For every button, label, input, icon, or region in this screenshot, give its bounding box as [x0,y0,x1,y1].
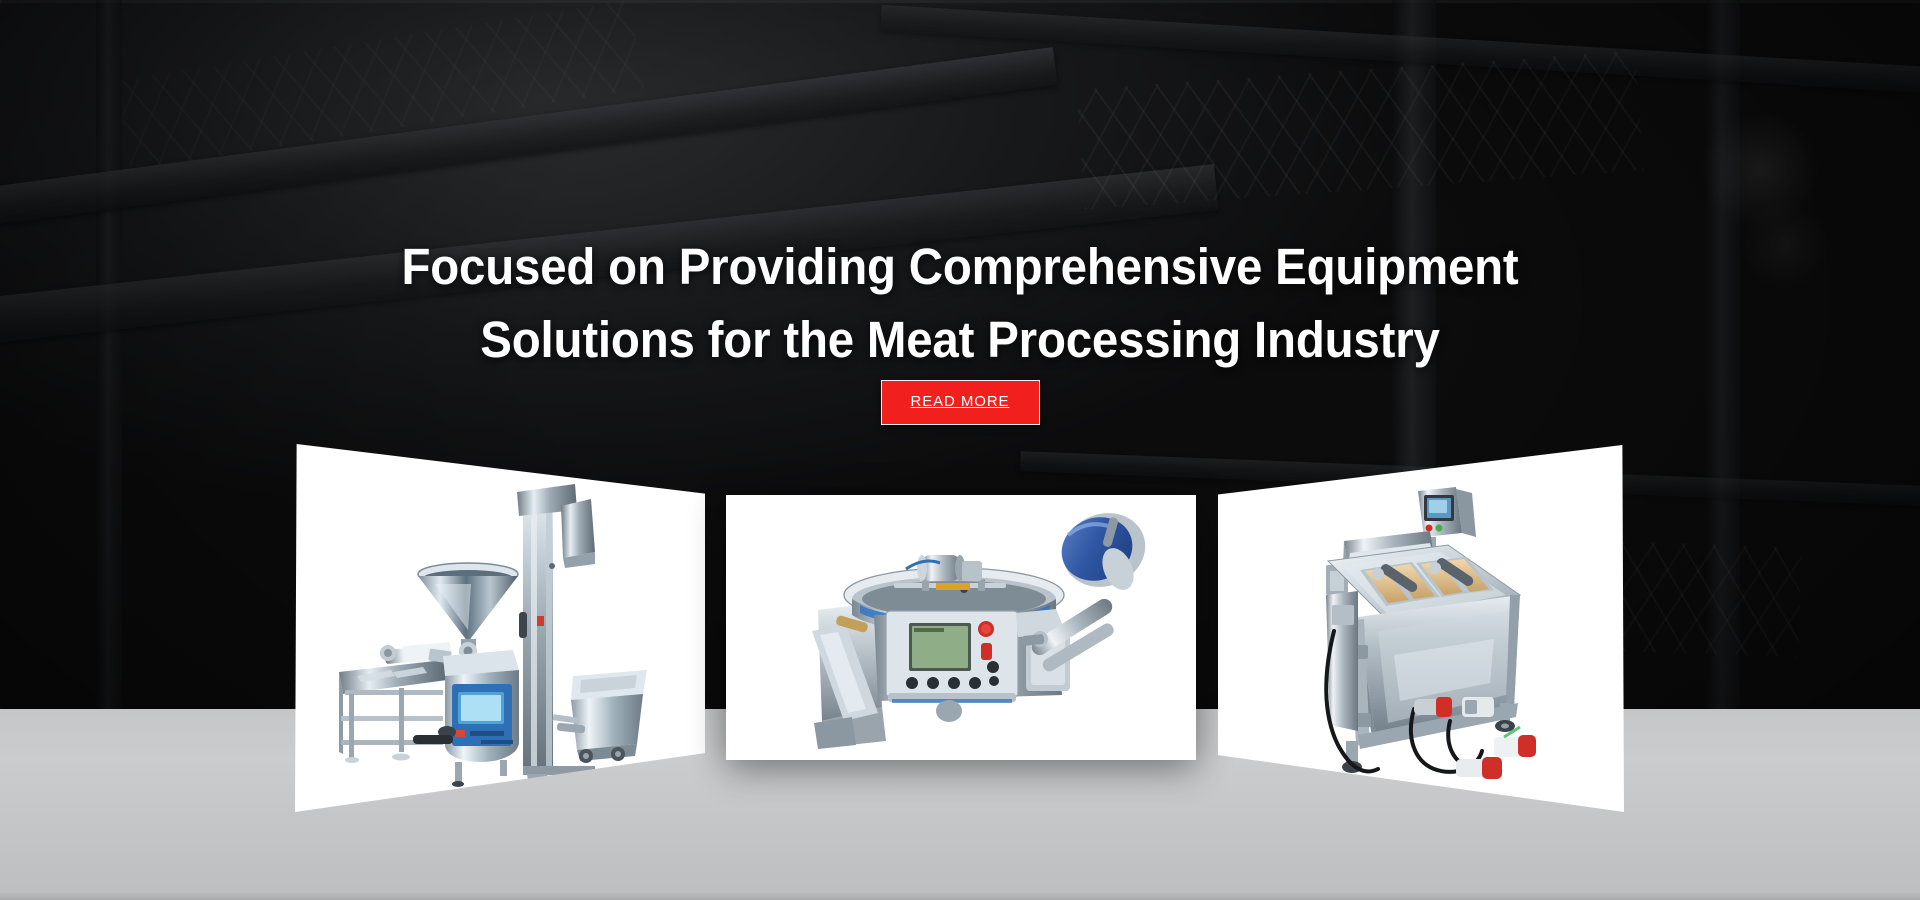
hero-banner: Focused on Providing Comprehensive Equip… [0,0,1920,900]
product-card-brine-injector-tank[interactable] [1218,445,1624,812]
bowl-cutter-photo [726,495,1196,760]
brine-injector-tank-photo [1218,445,1624,812]
product-card-bowl-cutter[interactable] [726,495,1196,760]
vacuum-filler-photo [295,444,705,812]
product-card-group [0,0,1920,900]
product-card-vacuum-filler[interactable] [295,444,705,812]
